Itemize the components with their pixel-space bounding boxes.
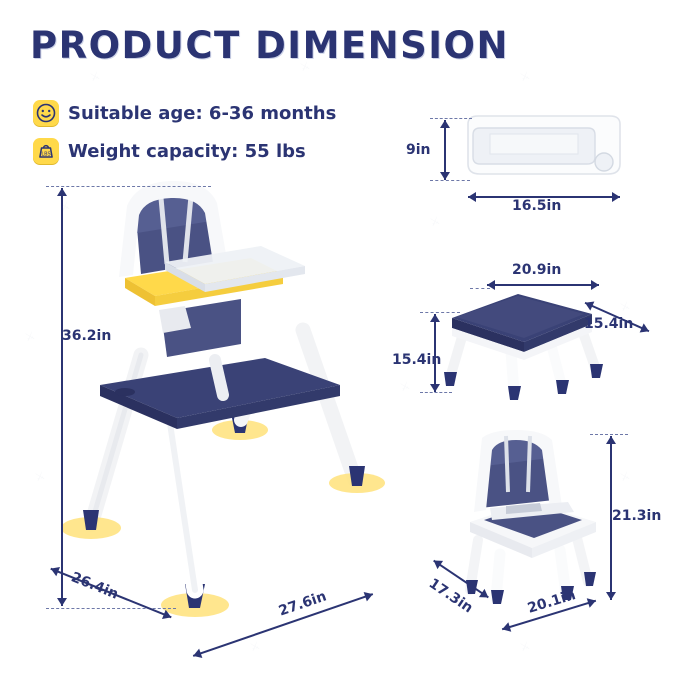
dimension-label-table-depth: 15.4in [584, 316, 633, 332]
spec-weight-capacity-label: Weight capacity: 55 lbs [68, 141, 306, 162]
watermark-mark: ⚔ [618, 469, 631, 484]
figure-table [432, 282, 632, 412]
dimension-arrow-height [55, 188, 69, 606]
dimension-label-chair-height: 21.3in [612, 508, 661, 524]
watermark-mark: ⚔ [398, 379, 411, 394]
figure-tray [460, 110, 630, 190]
guide-line-table-height-top [420, 312, 460, 313]
watermark-mark: ⚔ [23, 329, 36, 344]
dimension-label-tray-width: 16.5in [512, 198, 561, 214]
dimension-arrow-tray-height [438, 120, 452, 180]
page-title: PRODUCT DIMENSION [30, 24, 509, 67]
dimension-label-table-width: 20.9in [512, 262, 561, 278]
watermark-mark: ⚔ [88, 69, 101, 84]
dimension-arrow-table-width [487, 278, 599, 292]
guide-line-table-height-bottom [420, 392, 452, 393]
guide-line-tray-top [430, 118, 472, 119]
watermark-mark: ⚔ [428, 214, 441, 229]
dimension-label-height: 36.2in [62, 328, 111, 344]
dimension-label-table-height: 15.4in [392, 352, 441, 368]
guide-line-top [46, 186, 211, 187]
weight-lbs-icon: LBS [33, 138, 59, 164]
spec-suitable-age: Suitable age: 6-36 months [33, 100, 336, 126]
spec-suitable-age-label: Suitable age: 6-36 months [68, 103, 336, 124]
watermark-mark: ⚔ [518, 69, 531, 84]
watermark-mark: ⚔ [33, 469, 46, 484]
guide-line-tray-bottom [430, 180, 470, 181]
watermark-mark: ⚔ [518, 639, 531, 654]
dimension-label-tray-height: 9in [406, 142, 431, 158]
product-dimension-page: ⚔ ⚔ ⚔ ⚔ ⚔ ⚔ ⚔ ⚔ ⚔ ⚔ ⚔ ⚔ PRODUCT DIMENSIO… [0, 0, 679, 679]
svg-text:LBS: LBS [41, 151, 50, 157]
guide-line-chair-top [590, 434, 628, 435]
spec-weight-capacity: LBS Weight capacity: 55 lbs [33, 138, 306, 164]
figure-highchair-full [55, 180, 400, 640]
smiley-face-icon [33, 100, 59, 126]
